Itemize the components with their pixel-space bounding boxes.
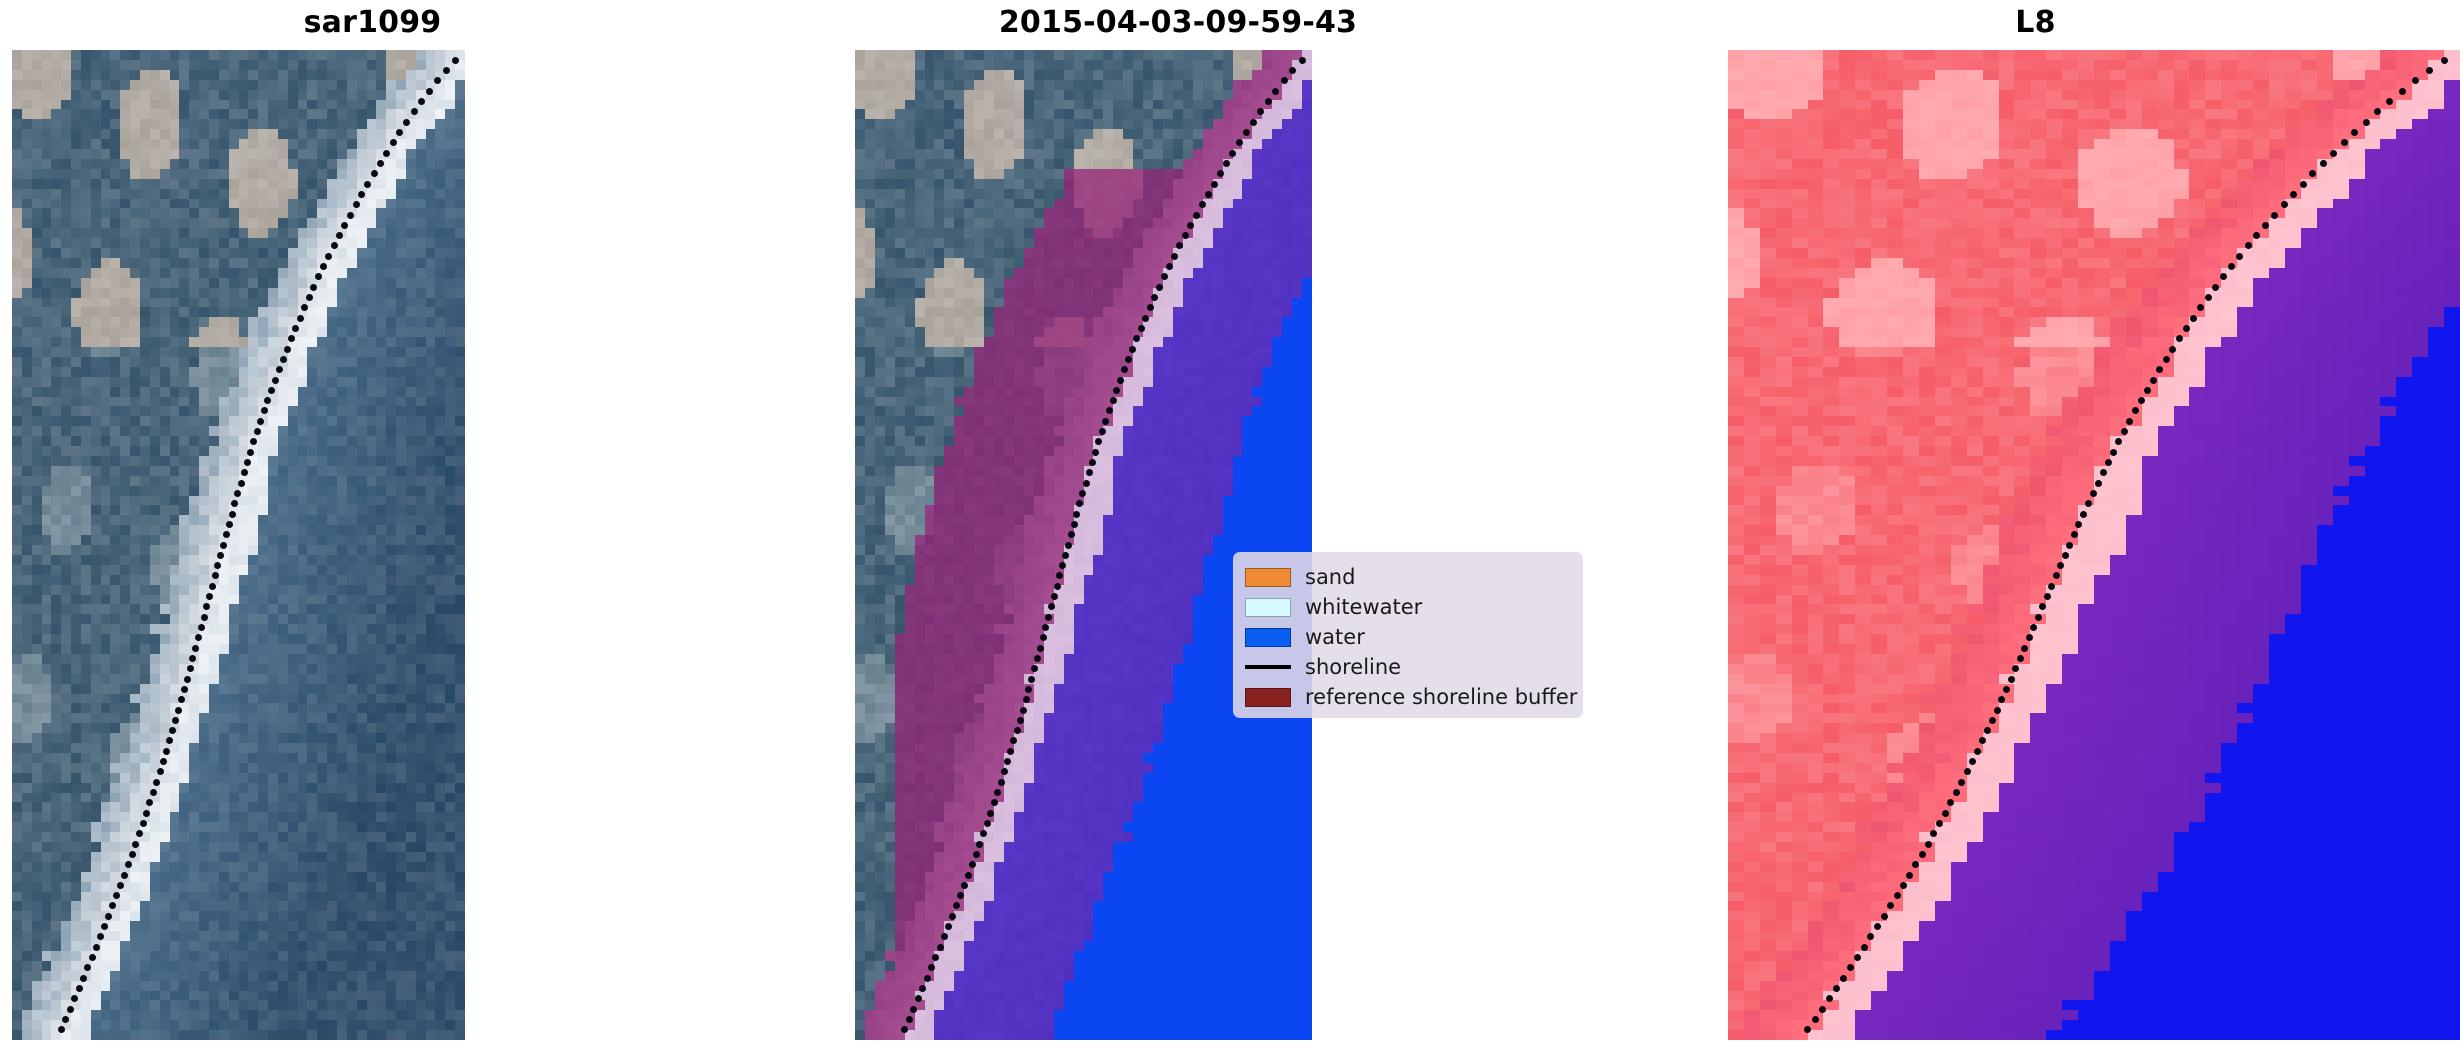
legend-item-water: water xyxy=(1245,622,1571,652)
panel-1-raster xyxy=(12,50,465,1040)
panel-1-image[interactable] xyxy=(12,50,465,1040)
shoreline-line-icon xyxy=(1245,665,1291,669)
legend-label-reference-buffer: reference shoreline buffer xyxy=(1305,687,1577,708)
whitewater-swatch-icon xyxy=(1245,598,1291,617)
panel-2-title: 2015-04-03-09-59-43 xyxy=(745,6,1611,40)
panel-l8: L8 xyxy=(1611,0,2460,1056)
legend-item-whitewater: whitewater xyxy=(1245,592,1571,622)
legend-item-reference-buffer: reference shoreline buffer xyxy=(1245,682,1571,712)
legend-label-water: water xyxy=(1305,627,1365,648)
panel-classified: 2015-04-03-09-59-43 xyxy=(745,0,1611,1056)
legend-box: sand whitewater water shoreline referenc… xyxy=(1233,552,1583,718)
panel-sar1099: sar1099 xyxy=(0,0,745,1056)
panel-2-image[interactable] xyxy=(855,50,1312,1040)
legend-label-shoreline: shoreline xyxy=(1305,657,1401,678)
reference-buffer-swatch-icon xyxy=(1245,688,1291,707)
panel-3-image[interactable] xyxy=(1728,50,2460,1040)
panel-3-title: L8 xyxy=(1611,6,2460,40)
sand-swatch-icon xyxy=(1245,568,1291,587)
legend-label-sand: sand xyxy=(1305,567,1355,588)
panel-3-raster xyxy=(1728,50,2460,1040)
legend-item-shoreline: shoreline xyxy=(1245,652,1571,682)
legend-label-whitewater: whitewater xyxy=(1305,597,1422,618)
water-swatch-icon xyxy=(1245,628,1291,647)
legend-item-sand: sand xyxy=(1245,562,1571,592)
panel-2-raster xyxy=(855,50,1312,1040)
figure-canvas: sar1099 2015-04-03-09-59-43 L8 sand whit… xyxy=(0,0,2460,1056)
panel-1-title: sar1099 xyxy=(0,6,745,40)
